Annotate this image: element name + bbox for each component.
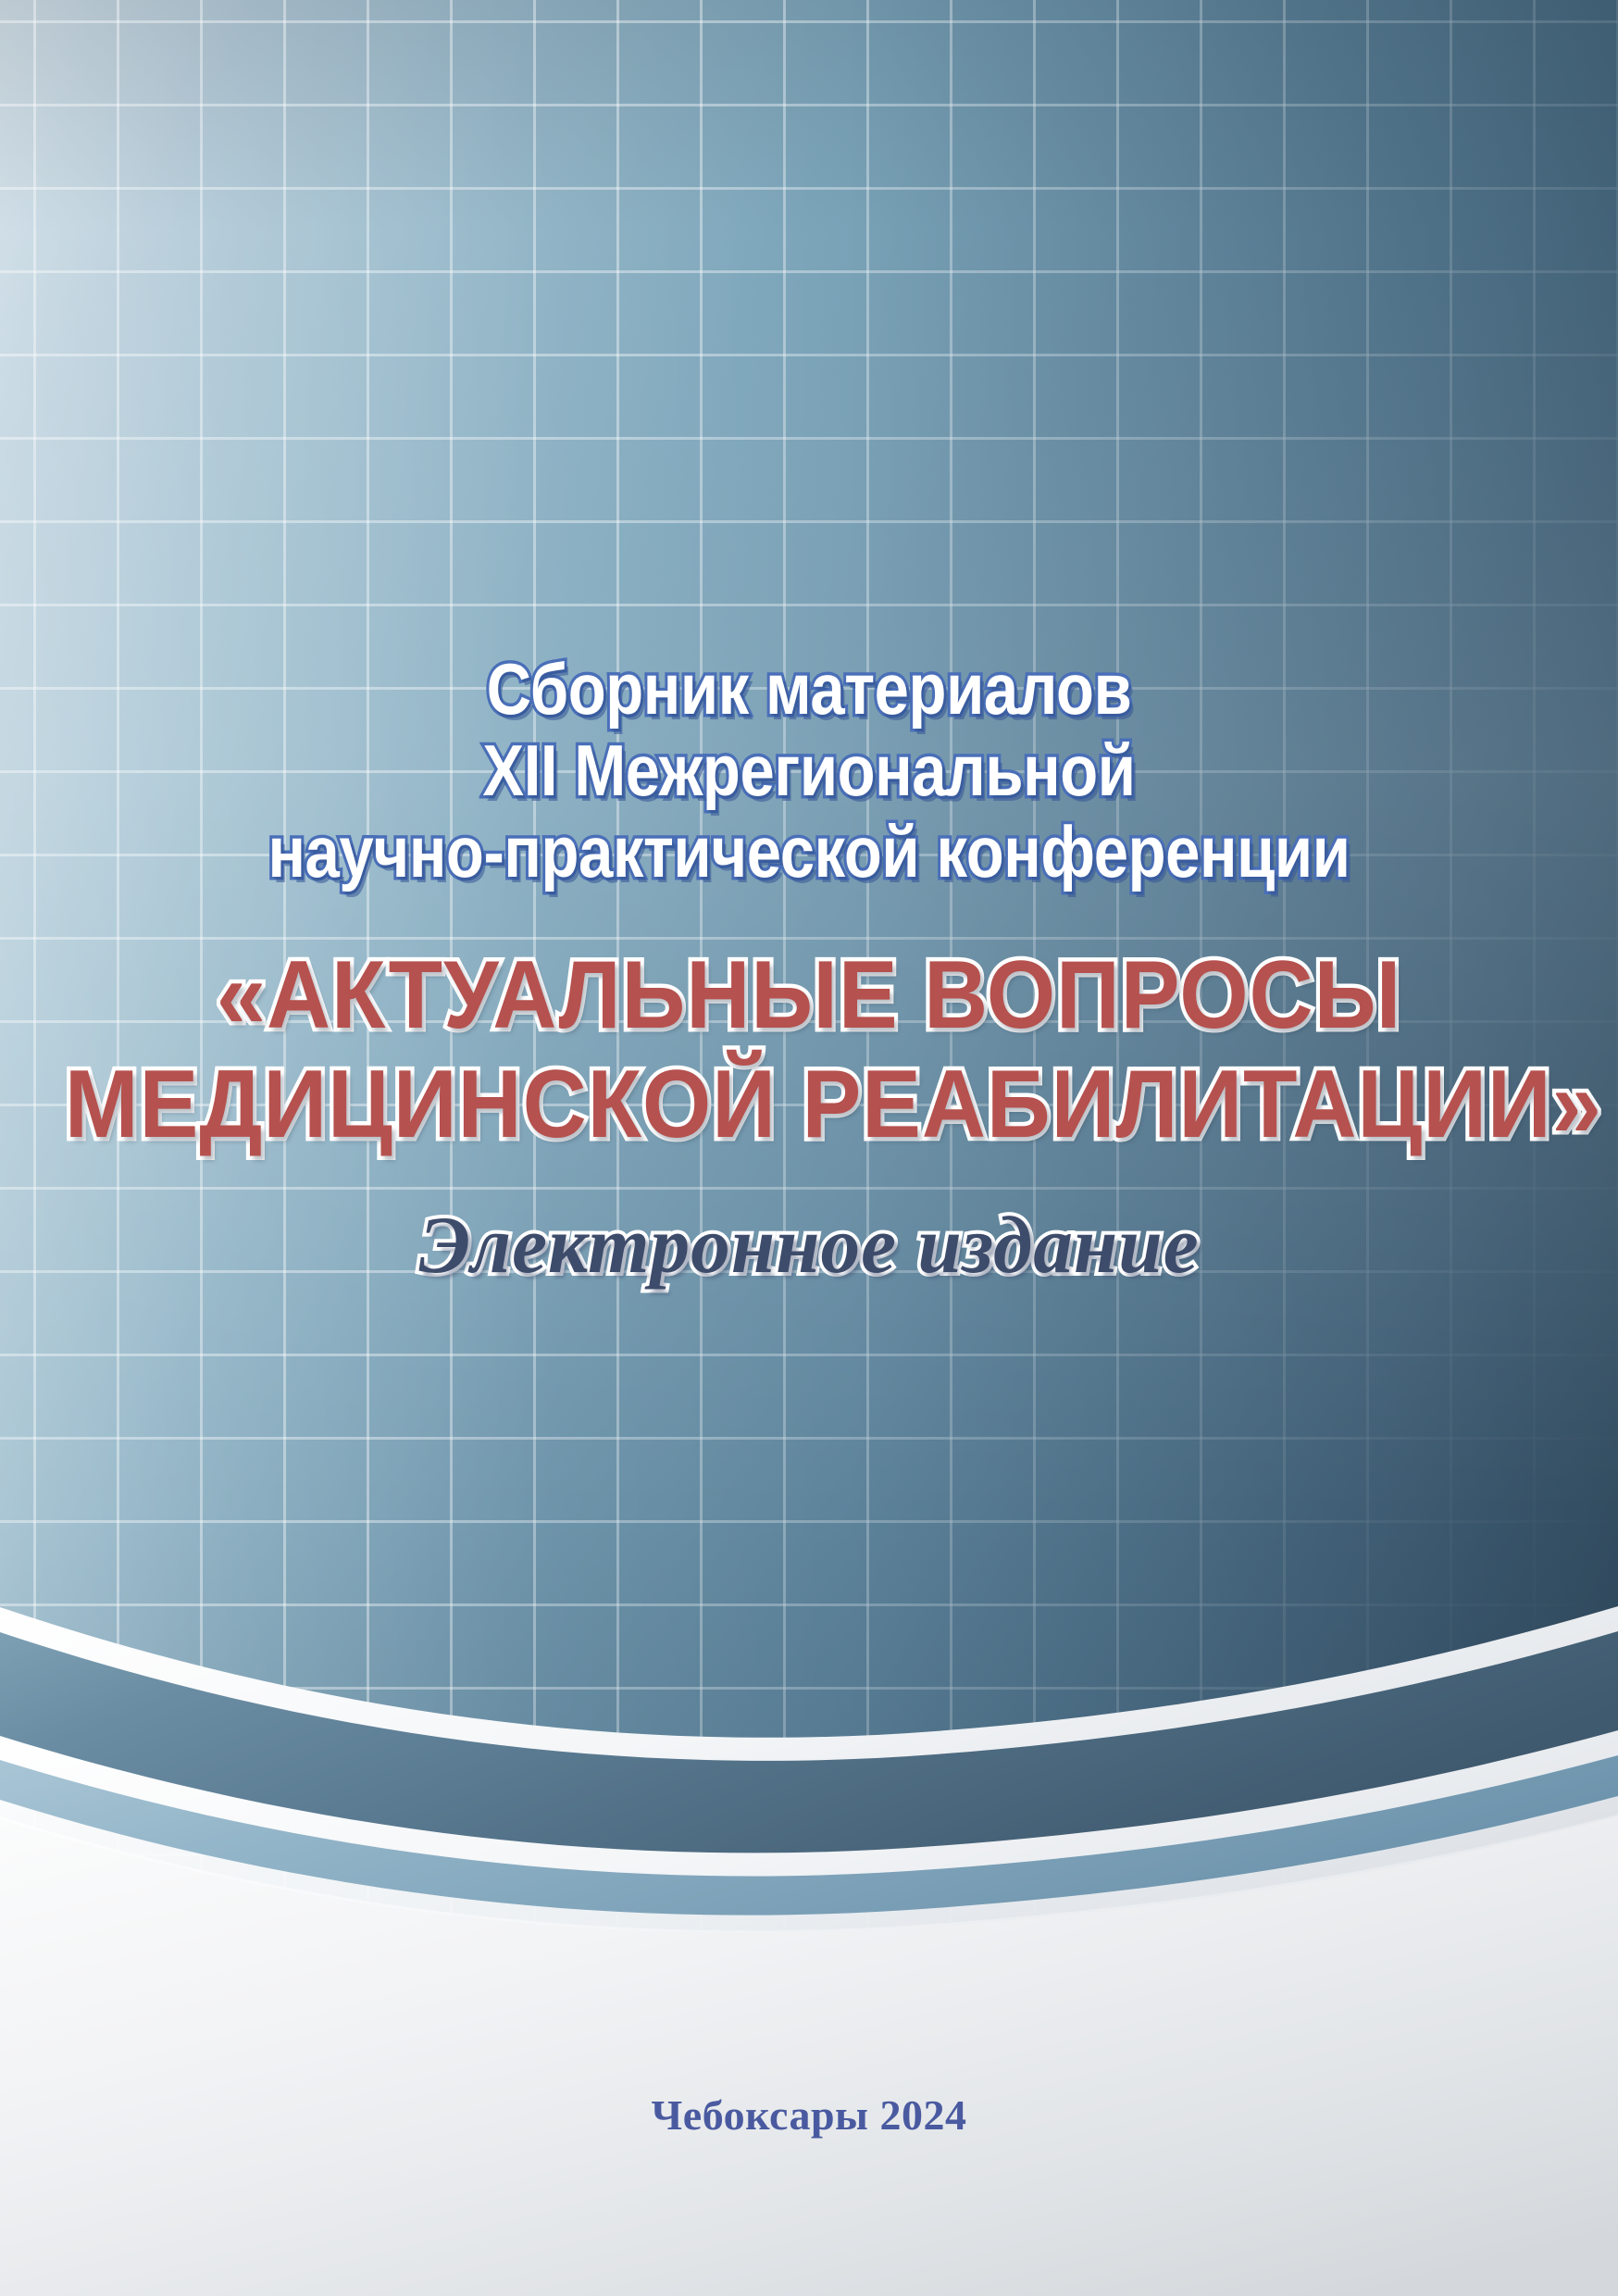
imprint-line: Чебоксары 2024 [0, 2090, 1618, 2140]
main-title: «АКТУАЛЬНЫЕ ВОПРОСЫ МЕДИЦИНСКОЙ РЕАБИЛИТ… [0, 941, 1618, 1159]
conference-line-2: XII Межрегиональной [113, 730, 1504, 811]
cover-page: Сборник материалов XII Межрегиональной н… [0, 0, 1618, 2296]
conference-line-3: научно-практической конференции [113, 811, 1504, 892]
main-title-line-1: «АКТУАЛЬНЫЕ ВОПРОСЫ [65, 941, 1553, 1050]
main-title-line-2: МЕДИЦИНСКОЙ РЕАБИЛИТАЦИИ» [65, 1050, 1553, 1159]
edition-note: Электронное издание [24, 1200, 1594, 1292]
title-block: Сборник материалов XII Межрегиональной н… [0, 648, 1618, 1292]
conference-line-1: Сборник материалов [113, 648, 1504, 730]
